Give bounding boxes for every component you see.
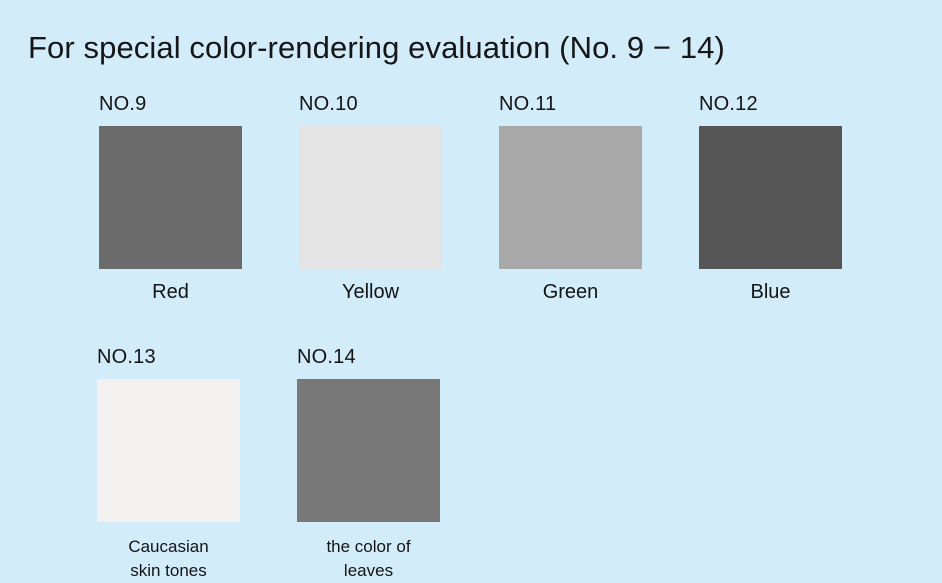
sample-caption: the color of leaves — [297, 535, 440, 583]
sample-number-label: NO.10 — [299, 92, 442, 116]
color-swatch — [99, 126, 242, 269]
page-title: For special color-rendering evaluation (… — [28, 28, 725, 68]
sample-caption-line: Green — [499, 280, 642, 305]
sample-caption: Caucasian skin tones — [97, 535, 240, 583]
color-sample-no9: NO.9 Red — [99, 92, 242, 305]
sample-caption: Green — [499, 280, 642, 305]
sample-caption-line: Red — [99, 280, 242, 305]
color-sample-no10: NO.10 Yellow — [299, 92, 442, 305]
sample-caption: Red — [99, 280, 242, 305]
color-swatch — [699, 126, 842, 269]
color-swatch — [297, 379, 440, 522]
color-sample-row-bottom: NO.13 Caucasian skin tones NO.14 the col… — [97, 345, 942, 583]
sample-caption-line: leaves — [297, 559, 440, 583]
sample-caption: Blue — [699, 280, 842, 305]
sample-number-label: NO.14 — [297, 345, 440, 369]
color-sample-no12: NO.12 Blue — [699, 92, 842, 305]
sample-number-label: NO.11 — [499, 92, 642, 116]
sample-caption: Yellow — [299, 280, 442, 305]
sample-caption-line: skin tones — [97, 559, 240, 583]
sample-caption-line: Caucasian — [97, 535, 240, 559]
color-sample-no14: NO.14 the color of leaves — [297, 345, 440, 583]
sample-caption-line: the color of — [297, 535, 440, 559]
sample-number-label: NO.13 — [97, 345, 240, 369]
slide-canvas: For special color-rendering evaluation (… — [0, 0, 942, 578]
color-sample-no11: NO.11 Green — [499, 92, 642, 305]
color-swatch — [299, 126, 442, 269]
sample-number-label: NO.12 — [699, 92, 842, 116]
sample-number-label: NO.9 — [99, 92, 242, 116]
sample-caption-line: Blue — [699, 280, 842, 305]
sample-caption-line: Yellow — [299, 280, 442, 305]
color-sample-no13: NO.13 Caucasian skin tones — [97, 345, 240, 583]
color-sample-row-top: NO.9 Red NO.10 Yellow NO.11 Green — [99, 92, 942, 305]
color-sample-grid: NO.9 Red NO.10 Yellow NO.11 Green — [0, 92, 942, 583]
color-swatch — [97, 379, 240, 522]
color-swatch — [499, 126, 642, 269]
